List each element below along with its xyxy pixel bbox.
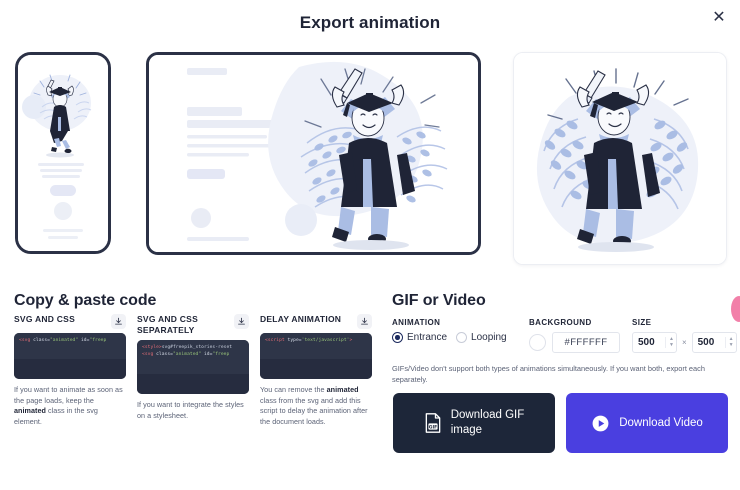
- animation-radio-group: Entrance Looping: [392, 332, 507, 343]
- animation-label: ANIMATION: [392, 318, 507, 327]
- code-column-svg-and-css: SVG AND CSS <svg class="animated" id="fr…: [14, 314, 126, 427]
- preview-strip: [0, 50, 740, 262]
- radio-entrance[interactable]: Entrance: [392, 332, 447, 343]
- graduation-illustration-plain: [514, 53, 726, 264]
- graduation-illustration-desktop: [149, 55, 478, 252]
- desc-text-after: class from the svg and add this script t…: [260, 396, 368, 426]
- code-column-header: DELAY ANIMATION: [260, 314, 372, 329]
- code-column-title: DELAY ANIMATION: [260, 314, 341, 325]
- width-stepper-buttons[interactable]: ▲ ▼: [665, 337, 674, 348]
- width-stepper[interactable]: 500 ▲ ▼: [632, 332, 677, 353]
- hex-color-input[interactable]: #FFFFFF: [552, 332, 620, 353]
- code-columns: SVG AND CSS <svg class="animated" id="fr…: [14, 314, 386, 484]
- radio-entrance-label: Entrance: [407, 332, 447, 343]
- code-snippet-box[interactable]: <svg class="animated" id="freep: [14, 333, 126, 379]
- export-animation-modal: Export animation ✕: [0, 0, 740, 490]
- radio-looping[interactable]: Looping: [456, 332, 507, 343]
- background-label: BACKGROUND: [529, 318, 620, 327]
- width-stepper-down[interactable]: ▼: [669, 343, 674, 348]
- code-column-title: SVG AND CSS SEPARATELY: [137, 314, 221, 336]
- desc-text-before: If you want to integrate the styles on a…: [137, 400, 244, 420]
- graduation-illustration-mobile: [18, 55, 108, 251]
- download-icon[interactable]: [234, 314, 249, 329]
- gif-video-note: GIFs/Video don't support both types of a…: [392, 363, 728, 385]
- height-stepper[interactable]: 500 ▲ ▼: [692, 332, 737, 353]
- download-gif-label-line1: Download GIF: [451, 409, 525, 421]
- size-controls: 500 ▲ ▼ × 500 ▲ ▼: [632, 332, 737, 353]
- play-circle-icon: [591, 414, 610, 433]
- code-column-description: If you want to animate as soon as the pa…: [14, 385, 126, 427]
- desc-text-before: If you want to animate as soon as the pa…: [14, 385, 123, 405]
- code-column-description: You can remove the animated class from t…: [260, 385, 372, 427]
- preview-card-plain[interactable]: [513, 52, 727, 265]
- background-controls: #FFFFFF: [529, 332, 620, 353]
- size-group: SIZE 500 ▲ ▼ × 500 ▲ ▼: [632, 318, 737, 353]
- radio-looping-dot[interactable]: [456, 332, 467, 343]
- gif-video-controls: ANIMATION Entrance Looping BACKGROUND #F…: [392, 318, 732, 362]
- download-gif-button[interactable]: GIF Download GIF image: [393, 393, 555, 453]
- preview-card-desktop[interactable]: [146, 52, 481, 255]
- download-gif-label-line2: image: [451, 424, 482, 436]
- code-snippet-footer: [14, 359, 126, 379]
- gif-video-title: GIF or Video: [392, 292, 732, 310]
- width-value[interactable]: 500: [638, 337, 662, 348]
- code-column-description: If you want to integrate the styles on a…: [137, 400, 249, 421]
- code-snippet-text: <svg class="animated" id="freep: [14, 333, 126, 359]
- height-stepper-buttons[interactable]: ▲ ▼: [725, 337, 734, 348]
- radio-entrance-dot[interactable]: [392, 332, 403, 343]
- download-icon[interactable]: [357, 314, 372, 329]
- size-label: SIZE: [632, 318, 737, 327]
- code-snippet-footer: [260, 359, 372, 379]
- code-snippet-box[interactable]: <style>svg#freepik_stories-reset <svg cl…: [137, 340, 249, 394]
- copy-paste-section: Copy & paste code: [14, 292, 386, 310]
- desc-text-bold: animated: [327, 385, 359, 394]
- page-title: Export animation: [0, 13, 740, 33]
- gif-file-icon: GIF: [424, 413, 442, 433]
- code-column-header: SVG AND CSS SEPARATELY: [137, 314, 249, 336]
- size-separator: ×: [682, 338, 687, 347]
- download-gif-label: Download GIF image: [451, 408, 525, 438]
- code-column-title: SVG AND CSS: [14, 314, 75, 325]
- height-stepper-down[interactable]: ▼: [729, 343, 734, 348]
- code-column-svg-and-css-separately: SVG AND CSS SEPARATELY <style>svg#freepi…: [137, 314, 249, 421]
- svg-text:GIF: GIF: [429, 425, 437, 431]
- desc-text-bold: animated: [14, 406, 46, 415]
- download-icon[interactable]: [111, 314, 126, 329]
- preview-card-mobile[interactable]: [15, 52, 111, 254]
- animation-group: ANIMATION Entrance Looping: [392, 318, 507, 343]
- code-snippet-footer: [137, 374, 249, 394]
- height-value[interactable]: 500: [698, 337, 722, 348]
- copy-paste-title: Copy & paste code: [14, 292, 386, 310]
- code-column-header: SVG AND CSS: [14, 314, 126, 329]
- download-video-button[interactable]: Download Video: [566, 393, 728, 453]
- gif-video-section: GIF or Video: [392, 292, 732, 310]
- color-swatch[interactable]: [529, 334, 546, 351]
- close-icon[interactable]: ✕: [708, 7, 730, 29]
- background-group: BACKGROUND #FFFFFF: [529, 318, 620, 353]
- code-snippet-text: <style>svg#freepik_stories-reset <svg cl…: [137, 340, 249, 374]
- radio-looping-label: Looping: [471, 332, 507, 343]
- code-snippet-box[interactable]: <script type='text/javascript'>: [260, 333, 372, 379]
- code-column-delay-animation: DELAY ANIMATION <script type='text/javas…: [260, 314, 372, 427]
- code-snippet-text: <script type='text/javascript'>: [260, 333, 372, 359]
- desc-text-before: You can remove the: [260, 385, 327, 394]
- download-video-label: Download Video: [619, 416, 703, 431]
